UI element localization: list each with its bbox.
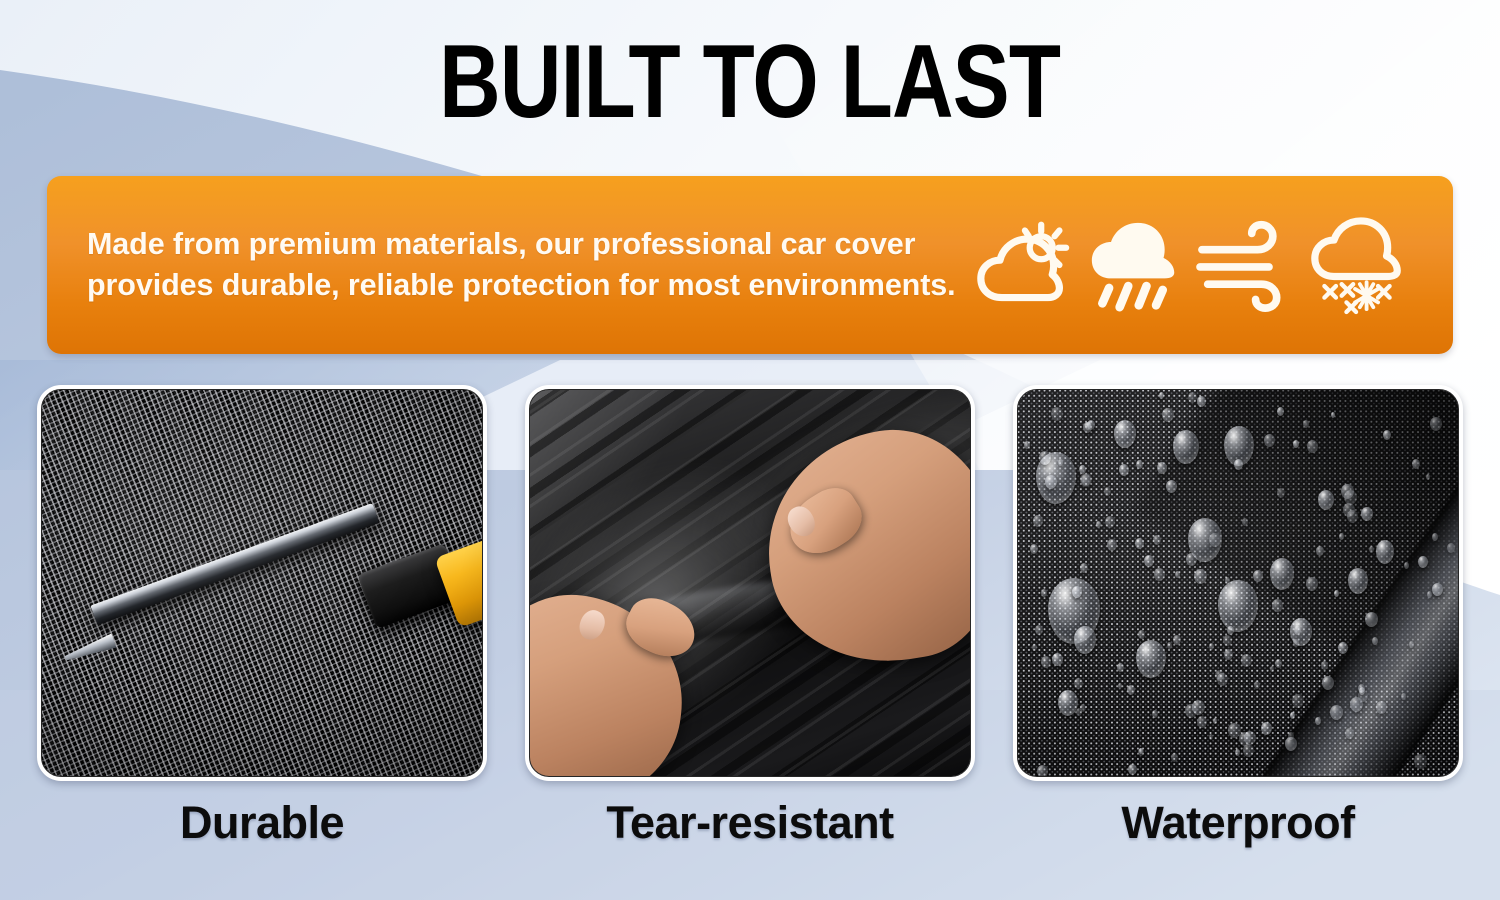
feature-item-durable: Durable bbox=[37, 385, 487, 846]
infographic-page: BUILT TO LAST Made from premium material… bbox=[0, 0, 1500, 900]
woven-fabric-screwdriver-photo bbox=[42, 390, 482, 776]
feature-card bbox=[37, 385, 487, 781]
water-droplets-fabric-photo bbox=[1018, 390, 1458, 776]
wind-icon bbox=[1198, 219, 1294, 311]
feature-card bbox=[1013, 385, 1463, 781]
feature-caption: Tear-resistant bbox=[606, 799, 893, 846]
feature-item-waterproof: Waterproof bbox=[1013, 385, 1463, 846]
hands-stretching-fabric-photo bbox=[530, 390, 970, 776]
feature-item-tear-resistant: Tear-resistant bbox=[525, 385, 975, 846]
snow-cloud-icon bbox=[1309, 219, 1405, 311]
feature-card bbox=[525, 385, 975, 781]
feature-caption: Durable bbox=[180, 799, 344, 846]
rain-cloud-icon bbox=[1086, 219, 1182, 311]
page-title-wrap: BUILT TO LAST bbox=[0, 30, 1500, 134]
feature-card-row: Durable bbox=[0, 385, 1500, 846]
sun-behind-cloud-icon bbox=[975, 219, 1071, 311]
banner-description-text: Made from premium materials, our profess… bbox=[87, 224, 967, 307]
feature-caption: Waterproof bbox=[1121, 799, 1354, 846]
description-banner: Made from premium materials, our profess… bbox=[47, 176, 1453, 354]
weather-icon-group bbox=[967, 176, 1427, 354]
page-title: BUILT TO LAST bbox=[440, 30, 1061, 134]
